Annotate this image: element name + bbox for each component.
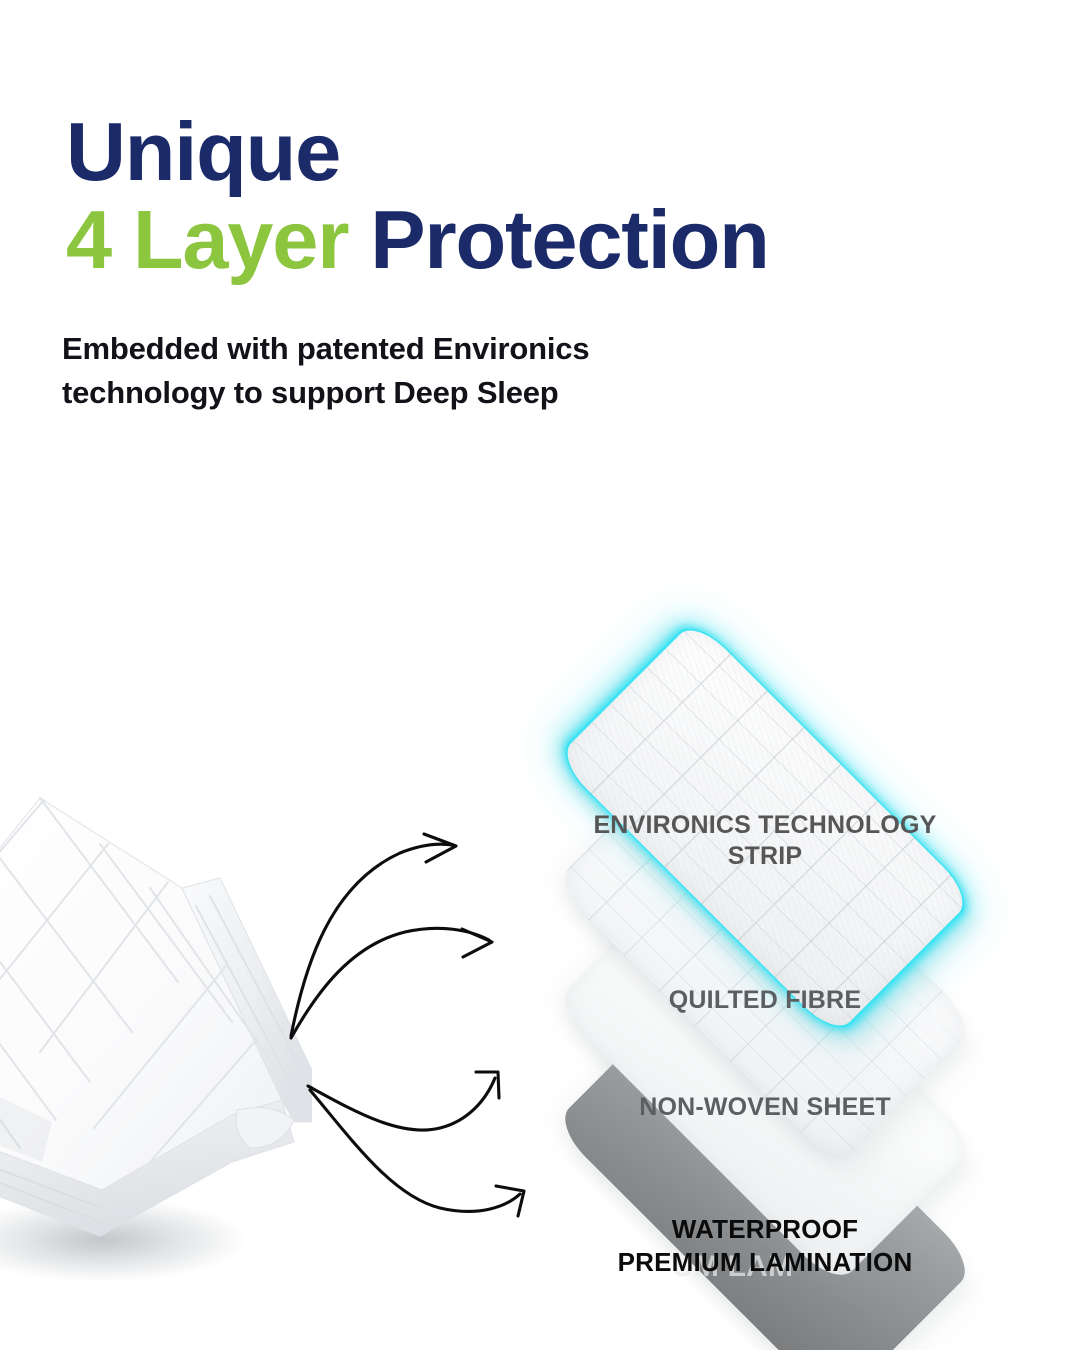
arrow-to-non-woven-sheet [308, 1072, 499, 1130]
layer-diagram: UM LAM ENVIRONICS TECHNOLOGY STRIP QUILT… [0, 0, 1080, 1350]
arrow-to-environics-strip [291, 834, 456, 1036]
poster-canvas: Unique 4 Layer Protection Embedded with … [0, 0, 1080, 1350]
arrow-to-quilted-fibre [291, 928, 492, 1038]
arrow-to-waterproof-lamination [310, 1090, 524, 1216]
